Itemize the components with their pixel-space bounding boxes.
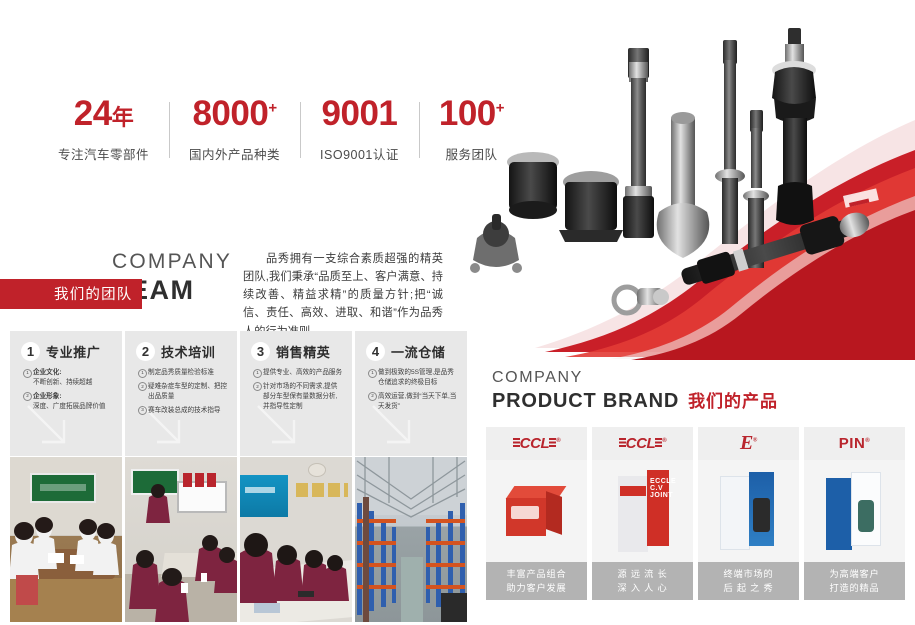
feature-card-list: 1提供专业、高效的产品服务 2针对市场的不同需求,提供部分车型保有量数据分析,并… (240, 368, 352, 412)
product-card: PIN® 为高端客户 打造的精品 (804, 427, 905, 600)
team-description-text: 品秀拥有一支综合素质超强的精英团队,我们秉承“品质至上、客户满意、持续改善、精益… (243, 253, 443, 338)
team-photo-training (125, 457, 237, 622)
stats-row: 24年 专注汽车零部件 8000+ 国内外产品种类 9001 ISO9001认证… (52, 96, 524, 163)
list-item: 1制定品秀质量检验标准 (138, 368, 228, 378)
product-logo-text: PIN (839, 435, 866, 452)
stat-label: 国内外产品种类 (189, 144, 280, 163)
caption-line-1: 终端市场的 (724, 567, 774, 581)
list-item: 1做到极致的5S管理,是品秀仓储追求的终极目标 (368, 368, 458, 388)
eccle-logo-icon: CCL® (619, 435, 667, 452)
product-card: E® 终端市场的 后 起 之 秀 (698, 427, 799, 600)
list-item: 2疑难杂症车型的定制、把控出品质量 (138, 382, 228, 402)
product-box-blue-white (720, 472, 776, 552)
logo-bars-icon (513, 438, 520, 449)
list-item-body: 针对市场的不同需求,提供部分车型保有量数据分析,并指导性定制 (263, 383, 337, 410)
product-logo-box: CCL® (486, 427, 587, 460)
team-description: 品秀拥有一支综合素质超强的精英团队,我们秉承“品质至上、客户满意、持续改善、精益… (243, 250, 443, 341)
registered-mark: ® (662, 438, 666, 444)
team-photo-warehouse (355, 457, 467, 622)
list-item-body: 不断创新、持续超越 (33, 379, 92, 386)
box-product-photo (858, 500, 874, 532)
stat-item: 8000+ 国内外产品种类 (169, 96, 300, 163)
product-box-red-tall: ECCLE C.V JOINT (618, 470, 670, 554)
box-label (511, 506, 539, 519)
brand-heading-main-text: PRODUCT BRAND (492, 390, 679, 412)
feature-card-list: 1做到极致的5S管理,是品秀仓储追求的终极目标 2高效运营,做到“当天下单,当天… (355, 368, 467, 412)
feature-card-number: 3 (251, 342, 270, 361)
feature-card-head: 2 技术培训 (125, 331, 237, 361)
team-photo-sales (240, 457, 352, 622)
box-front-face (720, 476, 750, 550)
product-logo-text: E (740, 432, 753, 454)
photo-people (125, 457, 237, 622)
caption-line-2: 深 入 人 心 (617, 581, 667, 595)
brand-heading-cn: 我们的产品 (688, 392, 778, 411)
team-heading-sub: COMPANY (112, 250, 232, 274)
product-caption: 终端市场的 后 起 之 秀 (698, 562, 799, 600)
list-item-number: 2 (138, 382, 147, 391)
feature-card-title: 销售精英 (276, 342, 330, 361)
box-label (620, 486, 646, 496)
list-item: 2针对市场的不同需求,提供部分车型保有量数据分析,并指导性定制 (253, 382, 343, 412)
list-item-number: 1 (253, 369, 262, 378)
feature-card-title: 专业推广 (46, 342, 100, 361)
registered-mark: ® (753, 437, 757, 443)
team-tag-badge: 我们的团队 (0, 279, 142, 309)
team-photos (10, 457, 470, 622)
product-image (804, 460, 905, 562)
product-box-red-cube (506, 486, 564, 538)
feature-card-head: 3 销售精英 (240, 331, 352, 361)
list-item-number: 3 (138, 406, 147, 415)
box-product-photo (753, 498, 770, 532)
list-item-body: 做到极致的5S管理,是品秀仓储追求的终极目标 (378, 369, 454, 386)
caption-line-2: 后 起 之 秀 (723, 581, 773, 595)
feature-card: 1 专业推广 1企业文化:不断创新、持续超越 2企业形象:深度、广度拓展品牌价值 (10, 331, 122, 456)
box-front-face (826, 478, 852, 550)
auto-parts-image (445, 0, 915, 360)
list-item-body: 提供专业、高效的产品服务 (263, 369, 342, 376)
list-item-body: 深度、广度拓展品牌价值 (33, 403, 106, 410)
product-logo-box: CCL® (592, 427, 693, 460)
poster-page: 24年 专注汽车零部件 8000+ 国内外产品种类 9001 ISO9001认证… (0, 0, 915, 625)
product-caption: 丰富产品组合 助力客户发展 (486, 562, 587, 600)
stat-item: 9001 ISO9001认证 (300, 96, 419, 163)
registered-mark: ® (556, 438, 560, 444)
product-list: CCL® 丰富产品组合 助力客户发展 CCL® (486, 427, 910, 600)
script-monogram-logo-icon: E® (740, 432, 757, 455)
list-item-body: 高效运营,做到“当天下单,当天发货” (378, 393, 456, 410)
product-image (486, 460, 587, 562)
list-item: 3赛车改装总成的技术指导 (138, 406, 228, 416)
list-item-head: 企业形象: (33, 392, 113, 402)
feature-cards: 1 专业推广 1企业文化:不断创新、持续超越 2企业形象:深度、广度拓展品牌价值… (10, 331, 470, 456)
stat-number: 100+ (439, 96, 504, 131)
feature-card-number: 4 (366, 342, 385, 361)
photo-people (10, 457, 122, 622)
stat-label: 专注汽车零部件 (58, 144, 149, 163)
product-caption: 为高端客户 打造的精品 (804, 562, 905, 600)
feature-card-title: 技术培训 (161, 342, 215, 361)
hero-banner (445, 0, 915, 360)
list-item-number: 2 (23, 392, 32, 401)
list-item-body: 制定品秀质量检验标准 (148, 369, 214, 376)
eccle-logo-icon: CCL® (513, 435, 561, 452)
feature-card-title: 一流仓储 (391, 342, 445, 361)
stat-number: 8000+ (189, 96, 280, 131)
feature-card-head: 4 一流仓储 (355, 331, 467, 361)
photo-people (240, 457, 352, 622)
list-item-body: 疑难杂症车型的定制、把控出品质量 (148, 383, 227, 400)
stat-label: ISO9001认证 (320, 144, 399, 163)
photo-structure (355, 457, 467, 622)
product-card: CCL® ECCLE C.V JOINT 源 远 流 长 深 入 人 心 (592, 427, 693, 600)
product-card: CCL® 丰富产品组合 助力客户发展 (486, 427, 587, 600)
list-item-number: 2 (368, 392, 377, 401)
brand-heading-main: PRODUCT BRAND我们的产品 (492, 389, 778, 413)
product-image: ECCLE C.V JOINT (592, 460, 693, 562)
product-image (698, 460, 799, 562)
product-logo-text: CCL (520, 435, 550, 452)
brand-heading: COMPANY PRODUCT BRAND我们的产品 (492, 369, 778, 413)
list-item: 2高效运营,做到“当天下单,当天发货” (368, 392, 458, 412)
feature-card-list: 1制定品秀质量检验标准 2疑难杂症车型的定制、把控出品质量 3赛车改装总成的技术… (125, 368, 237, 416)
cv-joint-parts-illustration (445, 0, 915, 360)
feature-card-list: 1企业文化:不断创新、持续超越 2企业形象:深度、广度拓展品牌价值 (10, 368, 122, 412)
stat-number: 24年 (58, 96, 149, 131)
feature-card-number: 2 (136, 342, 155, 361)
stat-number: 9001 (320, 96, 399, 131)
list-item: 1企业文化:不断创新、持续超越 (23, 368, 113, 388)
stat-label: 服务团队 (439, 144, 504, 163)
list-item-number: 1 (23, 369, 32, 378)
feature-card: 4 一流仓储 1做到极致的5S管理,是品秀仓储追求的终极目标 2高效运营,做到“… (355, 331, 467, 456)
list-item-number: 1 (138, 369, 147, 378)
feature-card-number: 1 (21, 342, 40, 361)
box-side-face (546, 491, 562, 535)
product-caption: 源 远 流 长 深 入 人 心 (592, 562, 693, 600)
team-photo-meeting (10, 457, 122, 622)
pin-logo-icon: PIN® (839, 435, 870, 452)
product-box-blue-tall (826, 472, 882, 552)
box-text: ECCLE C.V JOINT (650, 478, 676, 499)
logo-bars-icon (619, 438, 626, 449)
caption-line-2: 助力客户发展 (507, 581, 567, 595)
brand-heading-sub: COMPANY (492, 369, 778, 387)
feature-card: 2 技术培训 1制定品秀质量检验标准 2疑难杂症车型的定制、把控出品质量 3赛车… (125, 331, 237, 456)
list-item: 2企业形象:深度、广度拓展品牌价值 (23, 392, 113, 412)
caption-line-2: 打造的精品 (830, 581, 880, 595)
list-item: 1提供专业、高效的产品服务 (253, 368, 343, 378)
caption-line-1: 为高端客户 (830, 567, 880, 581)
list-item-body: 赛车改装总成的技术指导 (148, 407, 221, 414)
list-item-head: 企业文化: (33, 368, 113, 378)
stat-item: 24年 专注汽车零部件 (52, 96, 169, 163)
caption-line-1: 丰富产品组合 (507, 567, 567, 581)
caption-line-1: 源 远 流 长 (617, 567, 667, 581)
feature-card: 3 销售精英 1提供专业、高效的产品服务 2针对市场的不同需求,提供部分车型保有… (240, 331, 352, 456)
list-item-number: 1 (368, 369, 377, 378)
stat-item: 100+ 服务团队 (419, 96, 524, 163)
product-logo-box: PIN® (804, 427, 905, 460)
registered-mark: ® (865, 438, 870, 444)
feature-card-head: 1 专业推广 (10, 331, 122, 361)
product-logo-box: E® (698, 427, 799, 460)
list-item-number: 2 (253, 382, 262, 391)
product-logo-text: CCL (626, 435, 656, 452)
